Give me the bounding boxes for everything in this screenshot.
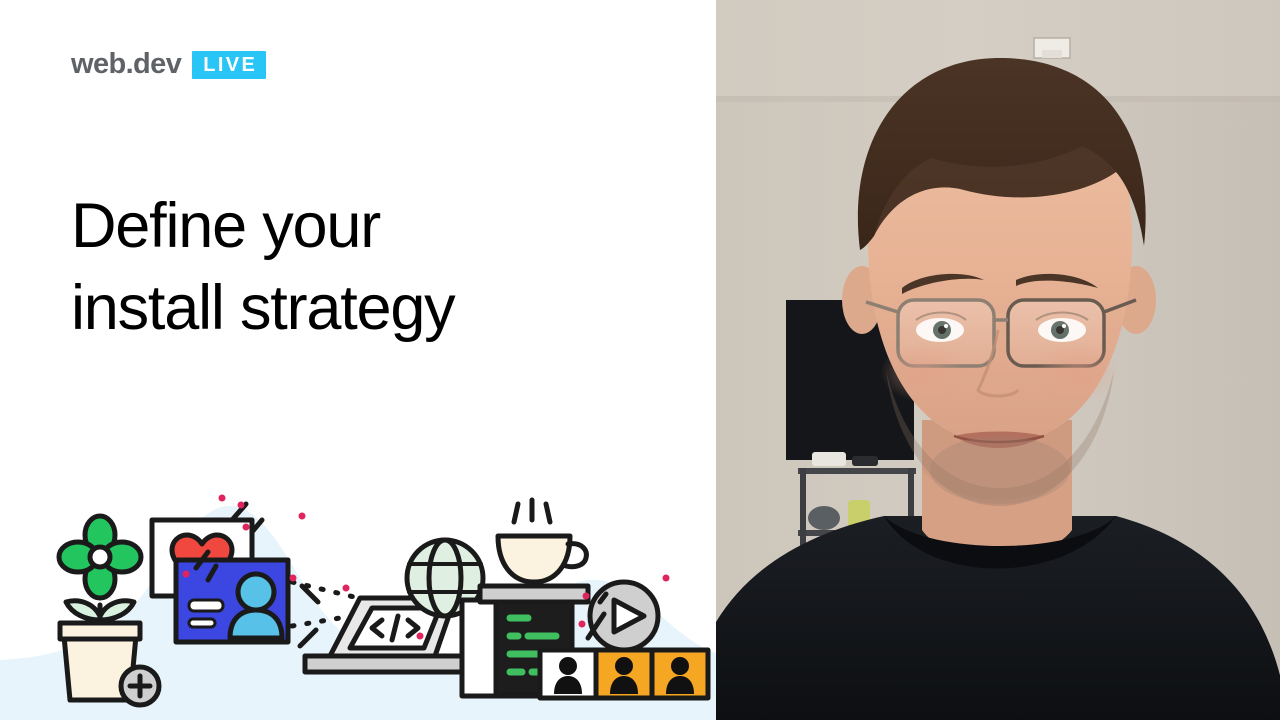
webcam-frame bbox=[716, 0, 1280, 720]
chin-stubble bbox=[930, 436, 1070, 504]
slide-title: Define your install strategy bbox=[71, 186, 631, 350]
illustration-group bbox=[0, 460, 716, 720]
laptop-sparkles bbox=[300, 586, 318, 646]
participant-tiles-icon bbox=[540, 650, 708, 698]
potted-flower-icon bbox=[59, 516, 159, 705]
coffee-cup-icon bbox=[498, 500, 586, 582]
slide-panel: web.dev LIVE Define your install strateg… bbox=[0, 0, 716, 720]
video-call-card-icon bbox=[176, 560, 288, 642]
brand-lockup: web.dev LIVE bbox=[71, 50, 266, 79]
cheek-right bbox=[1036, 342, 1120, 402]
live-badge: LIVE bbox=[192, 51, 266, 79]
wall-socket-icon bbox=[1034, 38, 1070, 58]
webdev-wordmark: web.dev bbox=[71, 50, 181, 79]
presenter-webcam-feed bbox=[716, 0, 1280, 720]
cheek-left bbox=[880, 342, 964, 402]
steam-strokes bbox=[514, 500, 550, 522]
presentation-stage: web.dev LIVE Define your install strateg… bbox=[0, 0, 1280, 720]
